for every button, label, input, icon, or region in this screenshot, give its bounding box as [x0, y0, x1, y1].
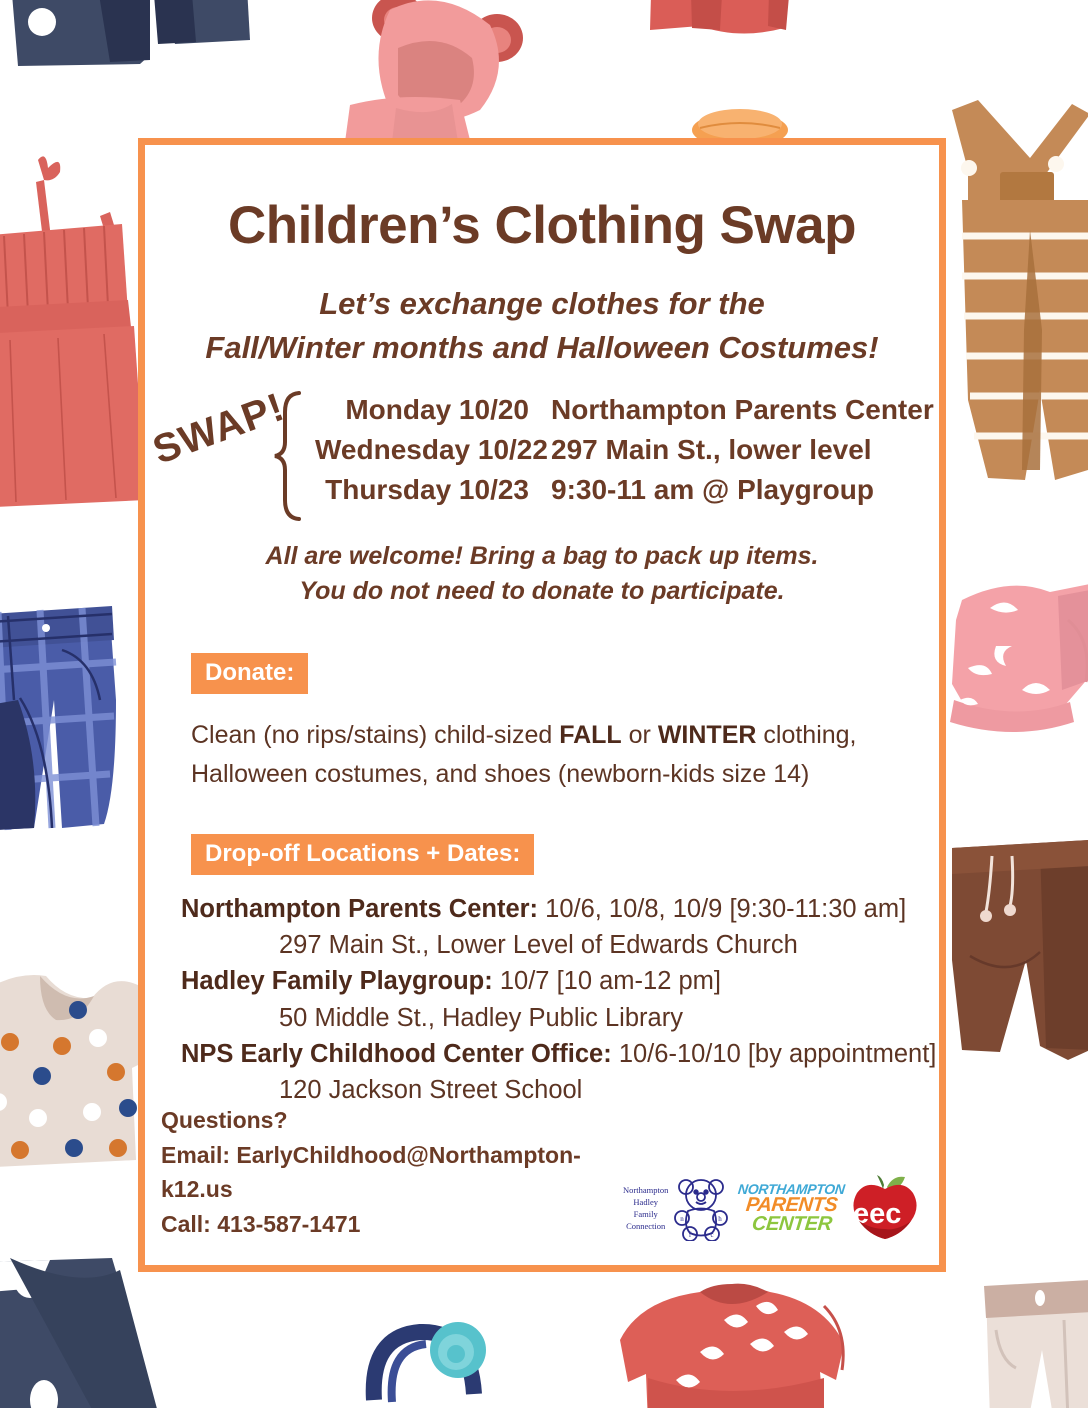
- dropoff-dates: 10/6, 10/8, 10/9 [9:30-11:30 am]: [538, 895, 906, 923]
- donate-heading: Donate:: [191, 653, 308, 694]
- contact-phone[interactable]: Call: 413-587-1471: [161, 1207, 623, 1242]
- dropoff-heading: Drop-off Locations + Dates:: [191, 834, 534, 875]
- svg-text:h: h: [719, 1215, 723, 1223]
- donate-fall: FALL: [559, 721, 622, 749]
- hadley-line-2: Hadley: [623, 1196, 668, 1208]
- curly-brace-icon: [273, 390, 307, 522]
- donate-section: Donate:: [191, 653, 939, 694]
- dropoff-entry: Hadley Family Playgroup: 10/7 [10 am-12 …: [181, 963, 939, 999]
- polka-dot-shirt-illustration: [0, 975, 148, 1168]
- swap-detail: 9:30-11 am @ Playgroup: [551, 474, 874, 506]
- beige-shorts-illustration: [984, 1280, 1088, 1408]
- northampton-parents-center-logo: NORTHAMPTON PARENTS CENTER: [738, 1183, 845, 1233]
- welcome-note: All are welcome! Bring a bag to pack up …: [145, 539, 939, 609]
- swap-schedule-row: Wednesday 10/22 297 Main St., lower leve…: [315, 434, 935, 474]
- hadley-line-4: Connection: [623, 1220, 668, 1232]
- swap-detail: 297 Main St., lower level: [551, 434, 872, 466]
- swap-detail: Northampton Parents Center: [551, 394, 934, 426]
- swap-schedule-block: SWAP! Monday 10/20 Northampton Parents C…: [145, 394, 939, 529]
- svg-text:c: c: [711, 1231, 714, 1239]
- red-shirt-illustration: [650, 0, 792, 34]
- swap-day: Thursday 10/23: [315, 474, 551, 506]
- dropoff-entry: Northampton Parents Center: 10/6, 10/8, …: [181, 891, 939, 927]
- red-flower-sweater-illustration: [620, 1284, 844, 1408]
- questions-label: Questions?: [161, 1103, 623, 1138]
- dropoff-name: NPS Early Childhood Center Office:: [181, 1040, 612, 1068]
- striped-overalls-illustration: [952, 100, 1088, 480]
- donate-text-a: Clean (no rips/stains) child-sized: [191, 721, 559, 749]
- subtitle: Let’s exchange clothes for the Fall/Wint…: [145, 282, 939, 370]
- plaid-pants-illustration: [0, 606, 116, 830]
- navy-skirt-illustration: [0, 1258, 182, 1408]
- main-content-panel: Children’s Clothing Swap Let’s exchange …: [138, 138, 946, 1272]
- subtitle-line-2: Fall/Winter months and Halloween Costume…: [145, 326, 939, 370]
- dropoff-dates: 10/6-10/10 [by appointment]: [612, 1040, 937, 1068]
- swap-schedule-table: Monday 10/20 Northampton Parents Center …: [315, 394, 935, 514]
- contact-email[interactable]: Email: EarlyChildhood@Northampton-k12.us: [161, 1138, 623, 1207]
- hadley-line-3: Family: [623, 1208, 668, 1220]
- dropoff-body: Northampton Parents Center: 10/6, 10/8, …: [181, 891, 939, 1108]
- swap-label: SWAP!: [147, 385, 290, 474]
- donate-text-e: clothing,: [756, 721, 856, 749]
- swap-schedule-row: Monday 10/20 Northampton Parents Center: [315, 394, 935, 434]
- hadley-logo-text: Northampton Hadley Family Connection: [623, 1184, 668, 1232]
- dropoff-name: Hadley Family Playgroup:: [181, 967, 493, 995]
- dropoff-address: 50 Middle St., Hadley Public Library: [181, 1000, 939, 1036]
- poster-root: Children’s Clothing Swap Let’s exchange …: [0, 0, 1088, 1408]
- eec-apple-icon: eec: [851, 1175, 921, 1241]
- subtitle-line-1: Let’s exchange clothes for the: [145, 282, 939, 326]
- hadley-line-1: Northampton: [623, 1184, 668, 1196]
- welcome-line-1: All are welcome! Bring a bag to pack up …: [145, 539, 939, 574]
- logo-row: Northampton Hadley Family Connection: [623, 1175, 923, 1241]
- page-title: Children’s Clothing Swap: [145, 195, 939, 256]
- teddy-bear-icon: nh fc: [670, 1175, 732, 1241]
- swap-day: Monday 10/20: [315, 394, 551, 426]
- hadley-family-connection-logo: Northampton Hadley Family Connection: [623, 1175, 732, 1241]
- pink-sweater-illustration: [950, 584, 1088, 732]
- headband-illustration: [374, 1322, 486, 1402]
- red-dress-illustration: [0, 156, 146, 508]
- footer: Questions? Email: EarlyChildhood@Northam…: [161, 1103, 923, 1241]
- welcome-line-2: You do not need to donate to participate…: [145, 574, 939, 609]
- svg-text:f: f: [689, 1231, 692, 1239]
- dropoff-entry: NPS Early Childhood Center Office: 10/6-…: [181, 1036, 939, 1072]
- npc-line-2: PARENTS: [745, 1196, 838, 1215]
- donate-body: Clean (no rips/stains) child-sized FALL …: [191, 716, 939, 794]
- dropoff-name: Northampton Parents Center:: [181, 895, 538, 923]
- donate-winter: WINTER: [658, 721, 757, 749]
- svg-text:eec: eec: [853, 1198, 901, 1230]
- brown-sweatpants-illustration: [952, 840, 1088, 1060]
- pink-bear-hoodie-illustration: [345, 0, 523, 142]
- npc-line-3: CENTER: [751, 1215, 833, 1234]
- swap-schedule-row: Thursday 10/23 9:30-11 am @ Playgroup: [315, 474, 935, 514]
- svg-text:n: n: [681, 1215, 685, 1223]
- navy-jacket-illustration: [10, 0, 250, 66]
- contact-block: Questions? Email: EarlyChildhood@Northam…: [161, 1103, 623, 1241]
- eec-logo: eec: [851, 1175, 921, 1241]
- dropoff-dates: 10/7 [10 am-12 pm]: [493, 967, 721, 995]
- donate-text-c: or: [622, 721, 658, 749]
- dropoff-section: Drop-off Locations + Dates:: [191, 834, 939, 875]
- dropoff-address: 297 Main St., Lower Level of Edwards Chu…: [181, 927, 939, 963]
- donate-line-2: Halloween costumes, and shoes (newborn-k…: [191, 755, 939, 794]
- swap-day: Wednesday 10/22: [315, 434, 551, 466]
- donate-line-1: Clean (no rips/stains) child-sized FALL …: [191, 716, 939, 755]
